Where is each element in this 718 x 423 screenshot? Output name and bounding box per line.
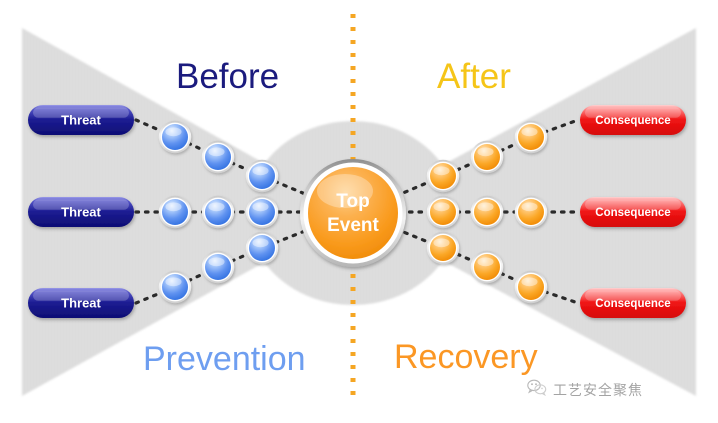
barrier-highlight: [252, 238, 268, 247]
consequence-2[interactable]: Consequence: [580, 197, 686, 227]
label-recovery: Recovery: [394, 338, 538, 377]
consequence-1[interactable]: Consequence: [580, 105, 686, 135]
consequence-label: Consequence: [595, 207, 670, 219]
barrier-highlight: [433, 238, 449, 247]
barrier-highlight: [477, 147, 493, 156]
threat-2[interactable]: Threat: [28, 197, 134, 227]
prevention-barrier-2[interactable]: [202, 141, 234, 173]
bowtie-svg: ThreatThreatThreat ConsequenceConsequenc…: [0, 0, 718, 423]
recovery-barrier-6[interactable]: [515, 196, 547, 228]
watermark-text: 工艺安全聚焦: [553, 380, 643, 400]
prevention-barrier-5[interactable]: [202, 196, 234, 228]
barrier-highlight: [165, 202, 181, 211]
label-prevention: Prevention: [143, 340, 306, 379]
prevention-barrier-4[interactable]: [159, 196, 191, 228]
barrier-highlight: [165, 127, 181, 136]
consequence-3[interactable]: Consequence: [580, 288, 686, 318]
prevention-barrier-1[interactable]: [159, 121, 191, 153]
recovery-barrier-7[interactable]: [427, 232, 459, 264]
threat-label: Threat: [61, 296, 101, 311]
recovery-barrier-1[interactable]: [427, 160, 459, 192]
barrier-highlight: [521, 127, 537, 136]
barrier-highlight: [208, 147, 224, 156]
recovery-barrier-2[interactable]: [471, 141, 503, 173]
barrier-highlight: [477, 202, 493, 211]
threat-3[interactable]: Threat: [28, 288, 134, 318]
recovery-barrier-9[interactable]: [515, 271, 547, 303]
threat-label: Threat: [61, 205, 101, 220]
prevention-barrier-6[interactable]: [246, 196, 278, 228]
consequence-label: Consequence: [595, 298, 670, 310]
barrier-highlight: [433, 166, 449, 175]
prevention-barrier-3[interactable]: [246, 160, 278, 192]
recovery-barrier-4[interactable]: [427, 196, 459, 228]
barrier-highlight: [165, 277, 181, 286]
top-event-node[interactable]: Top Event: [300, 159, 406, 267]
recovery-barrier-3[interactable]: [515, 121, 547, 153]
threat-label: Threat: [61, 113, 101, 128]
recovery-barrier-5[interactable]: [471, 196, 503, 228]
consequence-label: Consequence: [595, 115, 670, 127]
barrier-highlight: [521, 277, 537, 286]
barrier-highlight: [521, 202, 537, 211]
barrier-highlight: [477, 257, 493, 266]
prevention-barrier-7[interactable]: [159, 271, 191, 303]
top-event-label-line1: Top: [336, 191, 369, 212]
threat-1[interactable]: Threat: [28, 105, 134, 135]
barrier-highlight: [208, 257, 224, 266]
recovery-barrier-group: [427, 121, 547, 303]
prevention-barrier-group: [159, 121, 278, 303]
prevention-barrier-8[interactable]: [202, 251, 234, 283]
bowtie-diagram-canvas: ThreatThreatThreat ConsequenceConsequenc…: [0, 0, 718, 423]
barrier-highlight: [252, 202, 268, 211]
label-before: Before: [176, 57, 279, 97]
watermark: 工艺安全聚焦: [527, 379, 643, 401]
recovery-barrier-8[interactable]: [471, 251, 503, 283]
label-after: After: [437, 57, 511, 97]
top-event-label-line2: Event: [327, 215, 379, 236]
barrier-highlight: [433, 202, 449, 211]
barrier-highlight: [208, 202, 224, 211]
wechat-icon: [527, 379, 547, 401]
barrier-highlight: [252, 166, 268, 175]
prevention-barrier-9[interactable]: [246, 232, 278, 264]
